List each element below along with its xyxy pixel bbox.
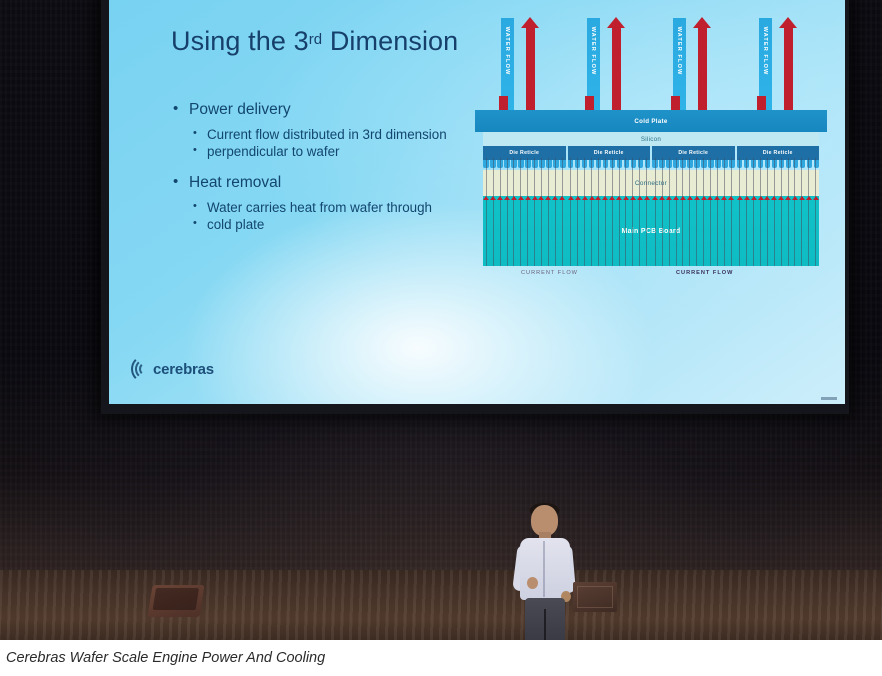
layer-silicon-label: Silicon: [641, 136, 661, 143]
via-group-3: [652, 158, 735, 266]
current-via-columns: [483, 158, 819, 266]
slide-title-tail: Dimension: [322, 26, 458, 56]
via-group-1: [483, 158, 566, 266]
current-flow-label-left: CURRENT FLOW: [521, 270, 578, 276]
die-reticle-label: Die Reticle: [678, 150, 708, 156]
layer-silicon: Silicon: [483, 132, 819, 146]
slide-title: Using the 3rd Dimension: [171, 26, 458, 57]
water-flow-up-arrow-icon: [612, 26, 621, 106]
presenter-shirt-placket: [543, 541, 545, 597]
water-flow-up-arrow-icon: [698, 26, 707, 106]
presenter-shirt: [520, 538, 570, 600]
slide-page-marker: [821, 397, 837, 400]
stage-monitor-speaker-left: [147, 585, 204, 617]
stage-speaker-right: [573, 582, 617, 612]
water-flow-up-arrow-icon: [784, 26, 793, 106]
presenter-left-hand: [527, 577, 538, 589]
water-flow-up-arrow-icon: [526, 26, 535, 106]
die-reticle-label: Die Reticle: [763, 150, 793, 156]
water-flow-label-2: WATER FLOW: [590, 20, 596, 82]
die-reticle-label: Die Reticle: [594, 150, 624, 156]
image-caption-text: Cerebras Wafer Scale Engine Power And Co…: [0, 650, 325, 666]
slide-title-superscript: rd: [309, 31, 323, 48]
layer-cold-plate-label: Cold Plate: [634, 118, 667, 125]
presentation-slide: Using the 3rd Dimension Power delivery C…: [109, 0, 845, 404]
layer-cold-plate: Cold Plate: [475, 110, 827, 132]
water-flow-label-3: WATER FLOW: [676, 20, 682, 82]
slide-title-main: Using the 3: [171, 26, 309, 56]
current-flow-label-right: CURRENT FLOW: [676, 270, 733, 276]
die-reticle-label: Die Reticle: [509, 150, 539, 156]
cerebras-arc-icon: [131, 356, 157, 382]
water-flow-label-1: WATER FLOW: [504, 20, 510, 82]
cooling-power-diagram: WATER FLOW WATER FLOW WATER FLOW: [471, 18, 831, 278]
cerebras-logo-text: cerebras: [153, 361, 214, 378]
presenter-leg-split: [544, 609, 546, 640]
image-caption-bar: Cerebras Wafer Scale Engine Power And Co…: [0, 640, 882, 676]
cerebras-logo: cerebras: [131, 356, 214, 382]
stage-photo: Using the 3rd Dimension Power delivery C…: [0, 0, 882, 640]
water-flow-label-4: WATER FLOW: [762, 20, 768, 82]
via-group-2: [568, 158, 651, 266]
presenter: [505, 505, 585, 640]
via-group-4: [737, 158, 820, 266]
stage-floor: [0, 570, 882, 640]
projection-screen-frame: Using the 3rd Dimension Power delivery C…: [101, 0, 849, 414]
